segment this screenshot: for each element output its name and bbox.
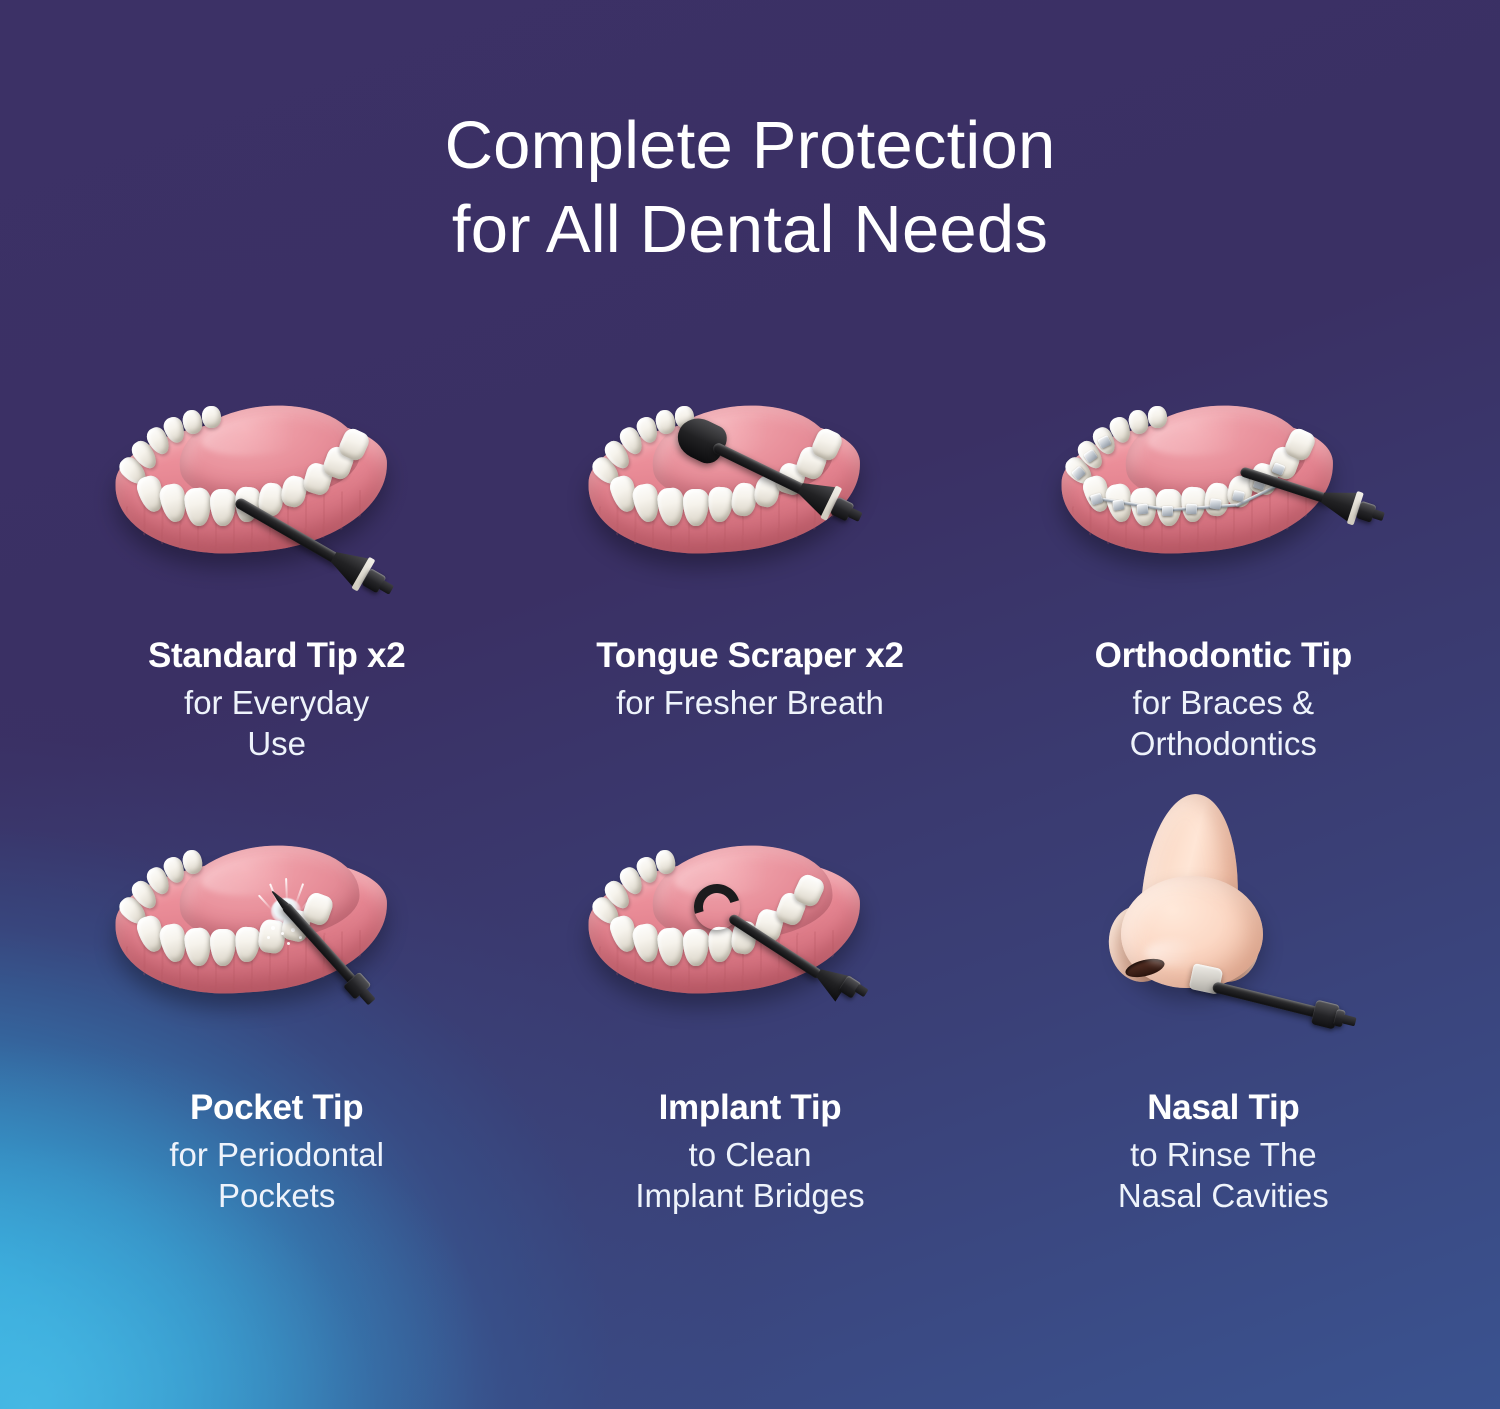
tip-stub <box>1342 1015 1357 1027</box>
caption-pocket-tip: Pocket Tip for Periodontal Pockets <box>40 1088 513 1217</box>
caption-standard-tip: Standard Tip x2 for Everyday Use <box>40 636 513 765</box>
braces-bracket <box>1186 504 1198 515</box>
feature-subtitle: for Fresher Breath <box>513 682 986 723</box>
page-title: Complete Protection for All Dental Needs <box>0 104 1500 273</box>
nose-highlight <box>1145 940 1211 966</box>
feature-card-implant-tip: Implant Tip to Clean Implant Bridges <box>513 790 986 1260</box>
feature-card-orthodontic-tip: Orthodontic Tip for Braces & Orthodontic… <box>987 350 1460 790</box>
feature-title: Pocket Tip <box>40 1088 513 1127</box>
braces-bracket <box>1162 506 1173 516</box>
spray-droplet <box>299 936 302 939</box>
product-image-nasal-tip <box>1033 790 1413 1040</box>
product-image-pocket-tip <box>87 790 467 1040</box>
dental-jaw-model <box>582 820 882 1000</box>
caption-nasal-tip: Nasal Tip to Rinse The Nasal Cavities <box>987 1088 1460 1217</box>
feature-title: Tongue Scraper x2 <box>513 636 986 675</box>
spray-ray <box>285 878 288 904</box>
feature-title: Standard Tip x2 <box>40 636 513 675</box>
spray-droplet <box>267 936 270 939</box>
product-image-standard-tip <box>87 350 467 600</box>
feature-subtitle: to Rinse The Nasal Cavities <box>987 1134 1460 1217</box>
feature-subtitle: for Braces & Orthodontics <box>987 682 1460 765</box>
caption-implant-tip: Implant Tip to Clean Implant Bridges <box>513 1088 986 1217</box>
caption-orthodontic-tip: Orthodontic Tip for Braces & Orthodontic… <box>987 636 1460 765</box>
tip-stub <box>1372 509 1385 521</box>
feature-subtitle: to Clean Implant Bridges <box>513 1134 986 1217</box>
feature-title: Nasal Tip <box>987 1088 1460 1127</box>
spray-droplet <box>287 942 290 945</box>
tip-shaft <box>1212 981 1323 1019</box>
dental-jaw-model-braces <box>1055 380 1355 560</box>
braces-bracket <box>1137 504 1149 515</box>
caption-tongue-scraper: Tongue Scraper x2 for Fresher Breath <box>513 636 986 723</box>
dental-jaw-model <box>109 820 409 1000</box>
infographic-poster: Complete Protection for All Dental Needs <box>0 0 1500 1409</box>
feature-subtitle: for Everyday Use <box>40 682 513 765</box>
dental-jaw-model <box>582 380 882 560</box>
feature-title: Implant Tip <box>513 1088 986 1127</box>
spray-droplet <box>281 932 284 935</box>
nose-model <box>1087 790 1317 1040</box>
tip-stub <box>854 984 868 998</box>
dental-jaw-model <box>109 380 409 560</box>
spray-droplet <box>291 928 295 932</box>
product-image-tongue-scraper <box>560 350 940 600</box>
tip-stub <box>847 508 862 522</box>
feature-card-nasal-tip: Nasal Tip to Rinse The Nasal Cavities <box>987 790 1460 1260</box>
feature-card-pocket-tip: Pocket Tip for Periodontal Pockets <box>40 790 513 1260</box>
feature-card-standard-tip: Standard Tip x2 for Everyday Use <box>40 350 513 790</box>
product-image-orthodontic-tip <box>1033 350 1413 600</box>
feature-card-tongue-scraper: Tongue Scraper x2 for Fresher Breath <box>513 350 986 790</box>
feature-grid: Standard Tip x2 for Everyday Use <box>40 350 1460 1260</box>
spray-droplet <box>271 926 275 930</box>
feature-subtitle: for Periodontal Pockets <box>40 1134 513 1217</box>
braces-bracket <box>1113 499 1126 511</box>
braces-bracket <box>1210 498 1222 509</box>
product-image-implant-tip <box>560 790 940 1040</box>
feature-title: Orthodontic Tip <box>987 636 1460 675</box>
